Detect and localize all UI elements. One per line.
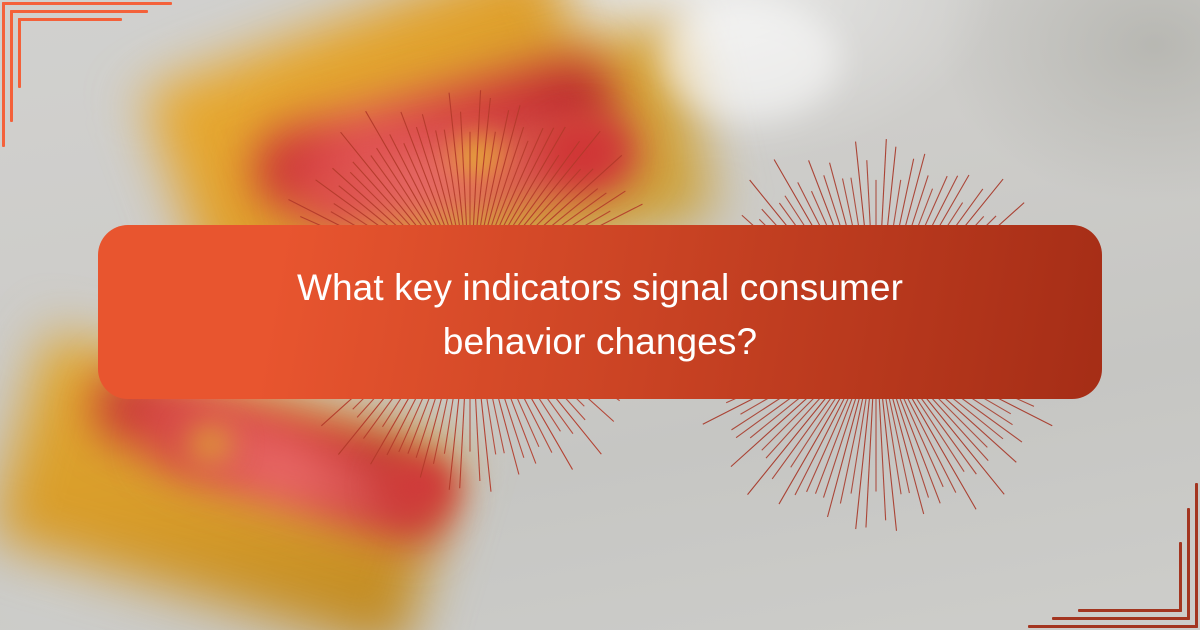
bracket-line-middle-vertical [1187,508,1190,620]
bracket-line-inner-vertical [1179,542,1182,612]
bracket-line-outer-horizontal [2,2,172,5]
title-card: What key indicators signal consumer beha… [98,225,1102,399]
bracket-line-inner-horizontal [1078,609,1182,612]
screenshot-canvas: What key indicators signal consumer beha… [0,0,1200,630]
bracket-line-outer-vertical [2,2,5,147]
bracket-line-middle-horizontal [10,10,148,13]
page-title: What key indicators signal consumer beha… [240,261,960,369]
bracket-line-outer-horizontal [1028,625,1198,628]
bracket-line-middle-vertical [10,10,13,122]
bracket-line-middle-horizontal [1052,617,1190,620]
corner-bracket-bottom-right [980,460,1200,630]
corner-bracket-top-left [0,0,220,170]
bracket-line-inner-horizontal [18,18,122,21]
bracket-line-inner-vertical [18,18,21,88]
bracket-line-outer-vertical [1195,483,1198,628]
